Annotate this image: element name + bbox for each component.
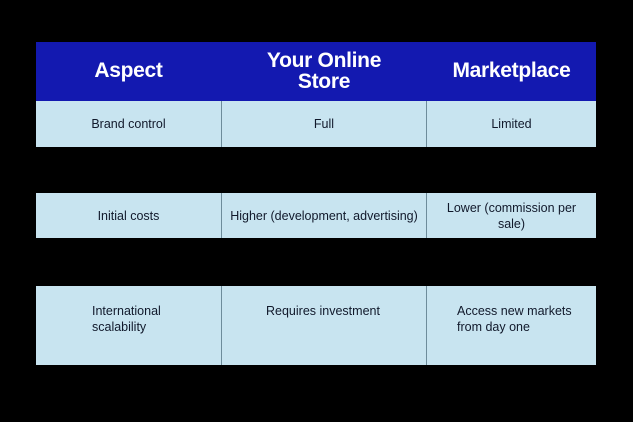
column-header-marketplace-label: Marketplace	[452, 61, 570, 82]
comparison-table: Aspect Your Online Store Marketplace Bra…	[36, 42, 596, 365]
cell-text: Initial costs	[98, 208, 160, 224]
cell-text: Full	[314, 116, 334, 132]
cell-text: International scalability	[92, 303, 213, 335]
column-header-aspect: Aspect	[36, 42, 222, 101]
cell-text: Access new markets from day one	[457, 303, 588, 335]
cell-marketplace: Lower (commission per sale)	[427, 193, 596, 238]
cell-text: Brand control	[91, 116, 165, 132]
column-header-marketplace: Marketplace	[427, 42, 596, 101]
cell-online-store: Full	[222, 101, 427, 147]
column-header-your-online-store: Your Online Store	[222, 42, 427, 101]
cell-aspect: Brand control	[36, 101, 222, 147]
table-row: International scalability Requires inves…	[36, 286, 596, 365]
cell-marketplace: Access new markets from day one	[427, 286, 596, 365]
table-row: Initial costs Higher (development, adver…	[36, 193, 596, 238]
cell-aspect: International scalability	[36, 286, 222, 365]
cell-aspect: Initial costs	[36, 193, 222, 238]
cell-text: Higher (development, advertising)	[230, 208, 418, 224]
cell-text: Requires investment	[266, 303, 380, 319]
column-header-your-online-store-label: Your Online Store	[267, 51, 381, 92]
cell-text: Lower (commission per sale)	[435, 200, 588, 232]
column-header-line-1: Your Online	[267, 51, 381, 72]
cell-online-store: Higher (development, advertising)	[222, 193, 427, 238]
cell-text: Limited	[491, 116, 531, 132]
cell-marketplace: Limited	[427, 101, 596, 147]
table-row: Brand control Full Limited	[36, 101, 596, 147]
column-header-line-2: Store	[267, 72, 381, 93]
cell-online-store: Requires investment	[222, 286, 427, 365]
table-header-row: Aspect Your Online Store Marketplace	[36, 42, 596, 101]
column-header-aspect-label: Aspect	[94, 61, 162, 82]
